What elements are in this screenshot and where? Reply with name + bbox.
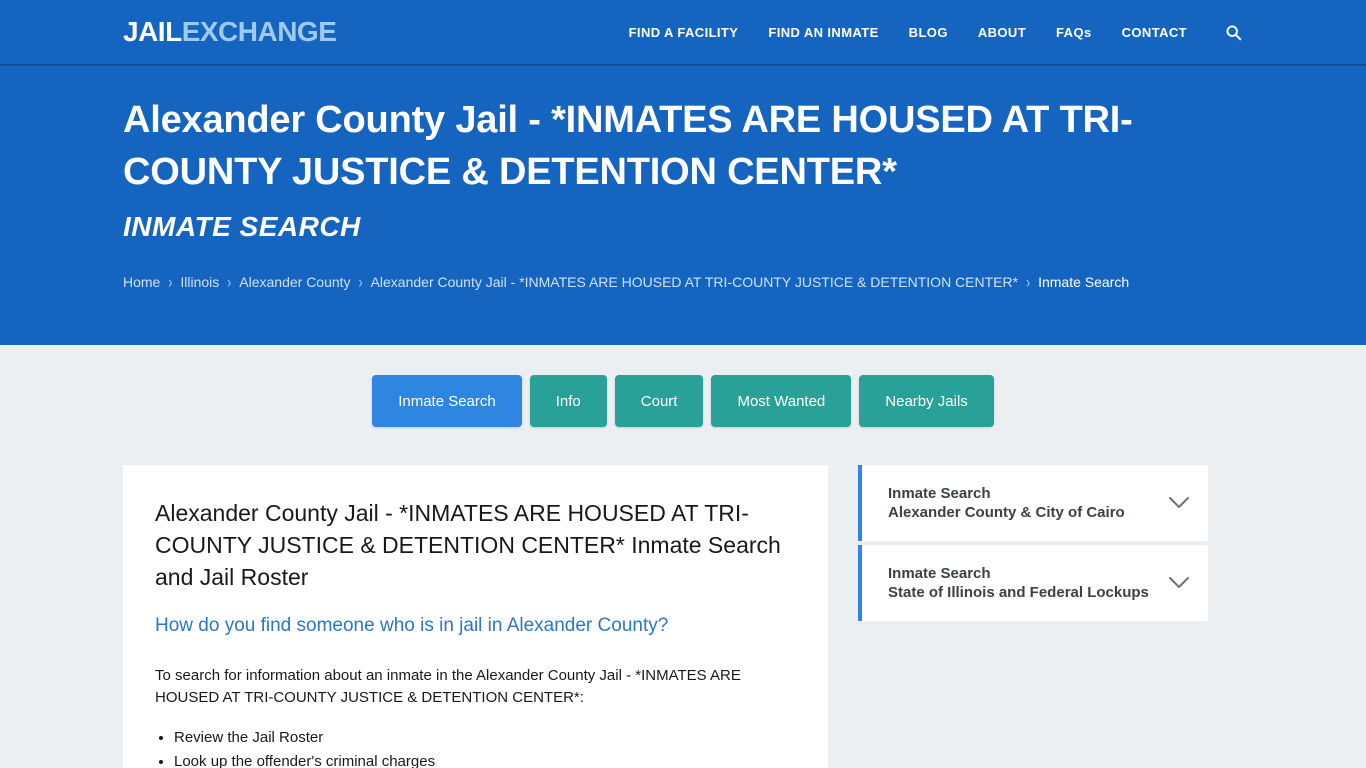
site-header: JAILEXCHANGE FIND A FACILITY FIND AN INM… (0, 0, 1366, 66)
breadcrumb-separator-icon: › (359, 272, 363, 292)
accordion-inmate-search-county[interactable]: Inmate Search Alexander County & City of… (858, 465, 1208, 541)
logo-text-primary: JAIL (123, 16, 182, 47)
sidebar: Inmate Search Alexander County & City of… (858, 465, 1208, 625)
breadcrumb: Home › Illinois › Alexander County › Ale… (123, 274, 1243, 290)
nav-item-about[interactable]: ABOUT (978, 25, 1026, 40)
tab-most-wanted[interactable]: Most Wanted (711, 375, 851, 427)
main-layout: Alexander County Jail - *INMATES ARE HOU… (123, 427, 1243, 768)
breadcrumb-item-current: Inmate Search (1038, 274, 1129, 290)
content-subheading-link[interactable]: How do you find someone who is in jail i… (155, 613, 796, 640)
accordion-subtitle: Alexander County & City of Cairo (888, 503, 1125, 522)
list-item: Look up the offender's criminal charges (174, 750, 796, 768)
breadcrumb-item-facility[interactable]: Alexander County Jail - *INMATES ARE HOU… (371, 274, 1019, 290)
accordion-inmate-search-state[interactable]: Inmate Search State of Illinois and Fede… (858, 545, 1208, 621)
list-item: Review the Jail Roster (174, 726, 796, 750)
nav-item-find-an-inmate[interactable]: FIND AN INMATE (768, 25, 878, 40)
logo-text-secondary: EXCHANGE (182, 16, 337, 47)
nav-item-contact[interactable]: CONTACT (1122, 25, 1187, 40)
tab-info[interactable]: Info (530, 375, 607, 427)
content-card: Alexander County Jail - *INMATES ARE HOU… (123, 465, 828, 768)
nav-item-blog[interactable]: BLOG (909, 25, 948, 40)
section-tabs: Inmate Search Info Court Most Wanted Nea… (123, 345, 1243, 427)
page-subtitle: INMATE SEARCH (123, 211, 1243, 243)
breadcrumb-separator-icon: › (1026, 272, 1030, 292)
accordion-title: Inmate Search (888, 564, 1149, 583)
hero-section: Alexander County Jail - *INMATES ARE HOU… (0, 66, 1366, 345)
site-logo[interactable]: JAILEXCHANGE (123, 18, 336, 46)
search-steps-list: Review the Jail Roster Look up the offen… (155, 726, 796, 768)
chevron-down-icon[interactable] (1168, 496, 1190, 510)
accordion-title: Inmate Search (888, 484, 1125, 503)
content-intro-text: To search for information about an inmat… (155, 665, 796, 709)
main-navigation: FIND A FACILITY FIND AN INMATE BLOG ABOU… (629, 22, 1243, 42)
tab-nearby-jails[interactable]: Nearby Jails (859, 375, 994, 427)
chevron-down-icon[interactable] (1168, 576, 1190, 590)
breadcrumb-separator-icon: › (168, 272, 172, 292)
tab-inmate-search[interactable]: Inmate Search (372, 375, 522, 427)
breadcrumb-item-alexander-county[interactable]: Alexander County (239, 274, 350, 290)
nav-item-faqs[interactable]: FAQs (1056, 25, 1092, 40)
search-icon[interactable] (1223, 22, 1243, 42)
content-heading: Alexander County Jail - *INMATES ARE HOU… (155, 497, 796, 594)
breadcrumb-item-illinois[interactable]: Illinois (180, 274, 219, 290)
page-title: Alexander County Jail - *INMATES ARE HOU… (123, 94, 1243, 199)
breadcrumb-item-home[interactable]: Home (123, 274, 160, 290)
nav-item-find-a-facility[interactable]: FIND A FACILITY (629, 25, 739, 40)
accordion-subtitle: State of Illinois and Federal Lockups (888, 583, 1149, 602)
tab-court[interactable]: Court (615, 375, 704, 427)
breadcrumb-separator-icon: › (227, 272, 231, 292)
